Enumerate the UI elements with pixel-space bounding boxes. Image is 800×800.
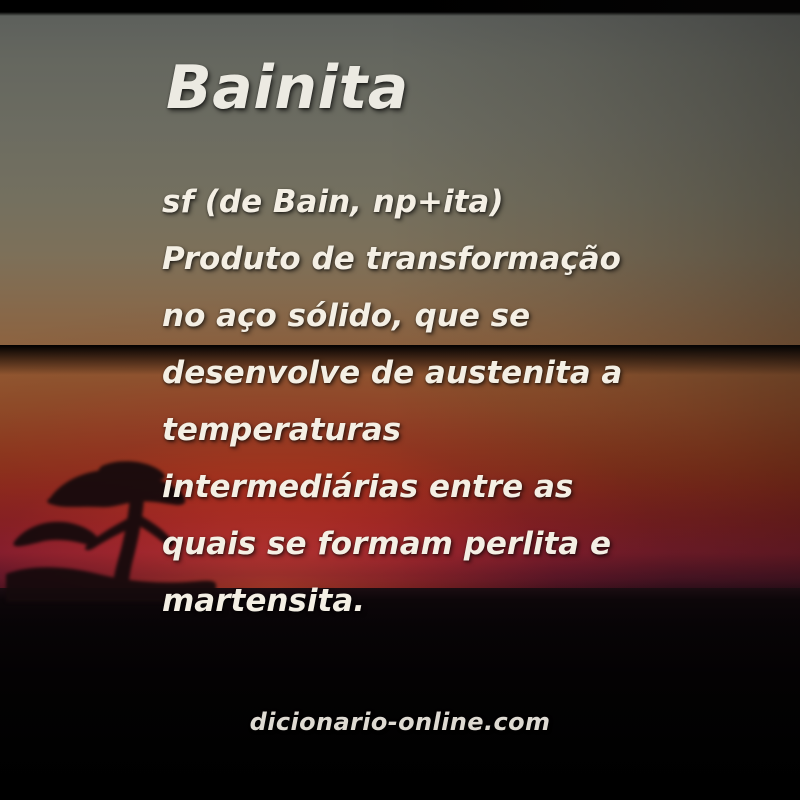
- definition-line: martensita.: [162, 573, 682, 630]
- definition-text: sf (de Bain, np+ita) Produto de transfor…: [162, 174, 682, 630]
- definition-line: desenvolve de austenita a: [162, 345, 682, 402]
- definition-line: Produto de transformação: [162, 231, 682, 288]
- definition-line: no aço sólido, que se: [162, 288, 682, 345]
- definition-line: intermediárias entre as: [162, 459, 682, 516]
- site-watermark: dicionario-online.com: [0, 708, 800, 736]
- definition-line: quais se formam perlita e: [162, 516, 682, 573]
- dictionary-image-card: Bainita sf (de Bain, np+ita) Produto de …: [0, 0, 800, 800]
- page-title: Bainita: [166, 53, 409, 123]
- text-overlay: Bainita sf (de Bain, np+ita) Produto de …: [0, 0, 800, 800]
- definition-line: temperaturas: [162, 402, 682, 459]
- definition-line: sf (de Bain, np+ita): [162, 174, 682, 231]
